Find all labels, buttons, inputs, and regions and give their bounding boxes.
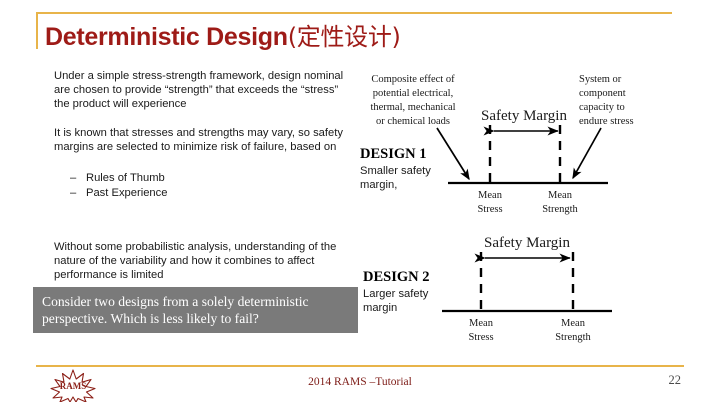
- design-1-heading: DESIGN 1: [360, 146, 426, 162]
- annotation-right-line-1: System or: [579, 74, 622, 85]
- title-left-rule: [36, 12, 38, 49]
- pointer-arrow-left-d1: [437, 128, 469, 179]
- callout-box: Consider two designs from a solely deter…: [33, 287, 358, 333]
- callout-line-1: Consider two designs from a solely deter…: [42, 293, 349, 310]
- design-2-subtitle-line-1: Larger safety: [363, 288, 429, 300]
- mean-stress-label-d2-2: Stress: [468, 332, 493, 343]
- page-number: 22: [669, 373, 682, 388]
- list-item: –Rules of Thumb: [70, 171, 350, 186]
- stress-strength-diagram: Composite effect of potential electrical…: [355, 60, 720, 355]
- body-paragraph-1: Under a simple stress-strength framework…: [54, 69, 354, 112]
- design-1-subtitle-line-2: margin,: [360, 179, 397, 191]
- body-bullet-list: –Rules of Thumb –Past Experience: [70, 171, 350, 200]
- body-paragraph-3: Without some probabilistic analysis, und…: [54, 240, 354, 283]
- dash-icon: –: [70, 171, 86, 186]
- footer-center-text: 2014 RAMS –Tutorial: [0, 376, 720, 388]
- annotation-left-loads: Composite effect of potential electrical…: [370, 74, 455, 127]
- annotation-right-line-2: component: [579, 88, 626, 99]
- design-1-subtitle-line-1: Smaller safety: [360, 165, 431, 177]
- page-title-cjk: (定性设计): [288, 23, 401, 51]
- annotation-right-capacity: System or component capacity to endure s…: [579, 74, 634, 127]
- mean-strength-label-d2-2: Strength: [555, 332, 591, 343]
- list-item: –Past Experience: [70, 186, 350, 201]
- mean-strength-label-d2: Mean: [561, 318, 586, 329]
- list-item-label: Rules of Thumb: [86, 172, 165, 184]
- title-top-rule: [36, 12, 672, 14]
- pointer-arrow-right-d1: [573, 128, 601, 178]
- annotation-left-line-1: Composite effect of: [371, 74, 455, 85]
- annotation-left-line-2: potential electrical,: [373, 88, 453, 99]
- mean-stress-label-d1-2: Stress: [477, 204, 502, 215]
- page-title-main: Deterministic Design: [45, 23, 288, 51]
- mean-strength-label-d1: Mean: [548, 190, 573, 201]
- safety-margin-label-d2: Safety Margin: [484, 235, 570, 251]
- dash-icon: –: [70, 186, 86, 201]
- annotation-right-line-4: endure stress: [579, 116, 634, 127]
- annotation-right-line-3: capacity to: [579, 102, 625, 113]
- page-title: Deterministic Design(定性设计): [45, 17, 401, 52]
- annotation-left-line-4: or chemical loads: [376, 116, 450, 127]
- design-2-heading: DESIGN 2: [363, 269, 429, 285]
- slide-canvas: Deterministic Design(定性设计) Under a simpl…: [0, 0, 720, 405]
- safety-margin-label-d1: Safety Margin: [481, 108, 567, 124]
- callout-line-2: perspective. Which is less likely to fai…: [42, 310, 349, 327]
- body-paragraph-2: It is known that stresses and strengths …: [54, 126, 354, 154]
- mean-stress-label-d1: Mean: [478, 190, 503, 201]
- mean-strength-label-d1-2: Strength: [542, 204, 578, 215]
- annotation-left-line-3: thermal, mechanical: [370, 102, 455, 113]
- footer-rule: [36, 365, 684, 367]
- mean-stress-label-d2: Mean: [469, 318, 494, 329]
- design-2-subtitle-line-2: margin: [363, 302, 397, 314]
- list-item-label: Past Experience: [86, 187, 167, 199]
